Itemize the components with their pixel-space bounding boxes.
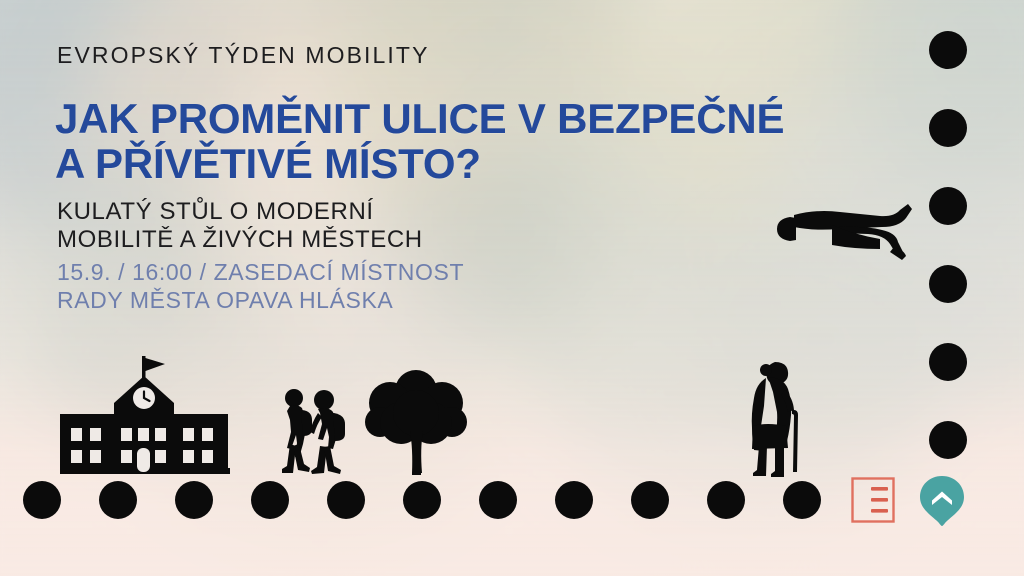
bottom-dot <box>783 481 821 519</box>
map-pin-logo-icon <box>916 474 968 528</box>
bottom-dot <box>479 481 517 519</box>
right-dot <box>929 421 967 459</box>
bottom-dot <box>251 481 289 519</box>
right-dot <box>929 31 967 69</box>
right-dot <box>929 265 967 303</box>
event-details: 15.9. / 16:00 / ZASEDACÍ MÍSTNOST RADY M… <box>57 258 464 314</box>
right-dot <box>929 343 967 381</box>
document-logo-icon <box>851 477 895 523</box>
event-details-line-2: RADY MĚSTA OPAVA HLÁSKA <box>57 286 464 314</box>
event-details-line-1: 15.9. / 16:00 / ZASEDACÍ MÍSTNOST <box>57 258 464 286</box>
bottom-dot <box>631 481 669 519</box>
school-building-silhouette <box>60 356 230 474</box>
elderly-person-with-cane-silhouette <box>742 360 812 478</box>
children-walking-silhouette <box>278 388 346 474</box>
bottom-dot <box>403 481 441 519</box>
bottom-dot <box>555 481 593 519</box>
poster-canvas: EVROPSKÝ TÝDEN MOBILITY JAK PROMĚNIT ULI… <box>0 0 1024 576</box>
person-lying-down-silhouette <box>776 203 924 261</box>
headline-line-2: A PŘÍVĚTIVÉ MÍSTO? <box>55 141 784 186</box>
bottom-dot <box>707 481 745 519</box>
bottom-dot <box>23 481 61 519</box>
kicker-text: EVROPSKÝ TÝDEN MOBILITY <box>57 42 430 69</box>
subtitle: KULATÝ STŮL O MODERNÍ MOBILITĚ A ŽIVÝCH … <box>57 198 423 254</box>
page-title: JAK PROMĚNIT ULICE V BEZPEČNÉ A PŘÍVĚTIV… <box>55 96 784 186</box>
bottom-dot <box>327 481 365 519</box>
subtitle-line-2: MOBILITĚ A ŽIVÝCH MĚSTECH <box>57 226 423 254</box>
bottom-dot <box>175 481 213 519</box>
subtitle-line-1: KULATÝ STŮL O MODERNÍ <box>57 198 423 226</box>
tree-silhouette <box>365 365 467 475</box>
headline-line-1: JAK PROMĚNIT ULICE V BEZPEČNÉ <box>55 96 784 141</box>
right-dot <box>929 109 967 147</box>
right-dot <box>929 187 967 225</box>
bottom-dot <box>99 481 137 519</box>
